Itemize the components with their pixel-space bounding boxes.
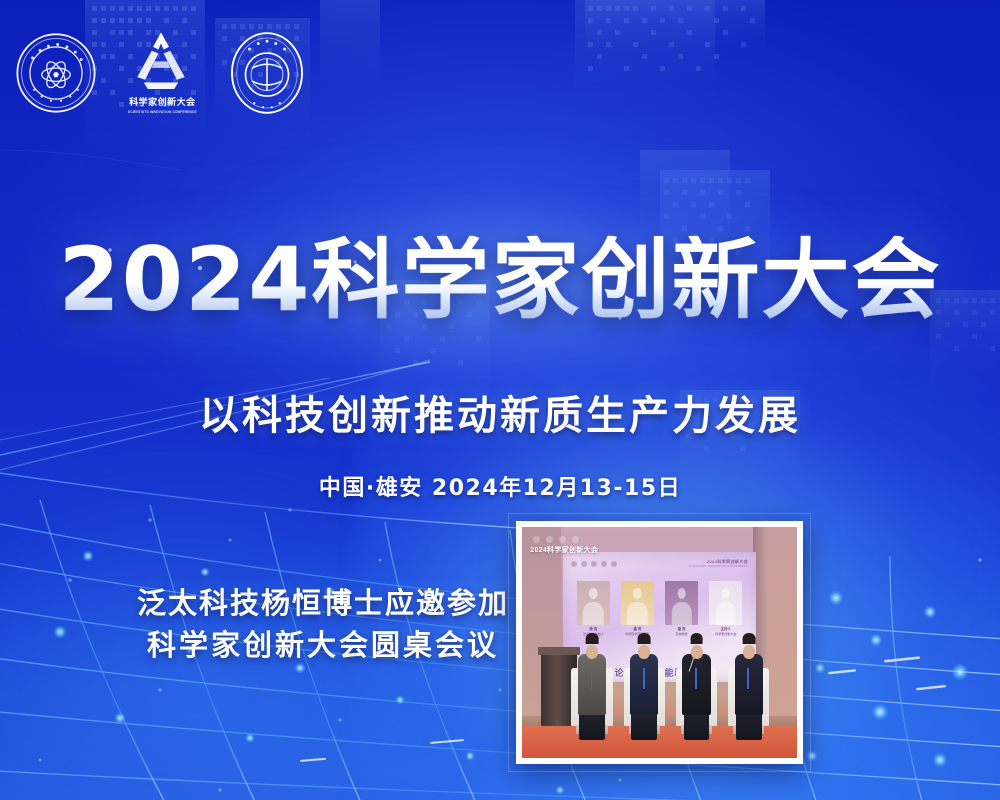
speaker-card: 嘉 宾 高校教授 — [665, 581, 698, 637]
panelist-group — [574, 633, 783, 725]
panelist-hair — [690, 633, 703, 644]
subtitle: 以科技创新推动新质生产力发展 — [0, 383, 1000, 441]
panelist-head — [638, 645, 650, 659]
photo-event-banner: 2024科学家创新大会 — [530, 536, 624, 555]
photo-banner-icons — [530, 536, 624, 543]
logo-caption-sub: SCIENTISTS INNOVATION CONFERENCE — [128, 111, 197, 114]
panelist-hair — [742, 633, 755, 644]
speaker-portrait — [665, 581, 698, 625]
speaker-portrait — [709, 581, 742, 625]
logo-xiongan-seal — [227, 30, 307, 116]
circular-seal-icon-2 — [227, 30, 307, 116]
panelist-hair — [586, 633, 599, 644]
speaker-portrait — [577, 581, 610, 625]
speaker-card-list: 杨 恒 泛太科技创始人 嘉 宾 中国科学院研究员 — [577, 581, 743, 637]
screen-brand-sub: SCIENTISTS INNOVATION CONFERENCE — [689, 565, 748, 569]
screen-logo-icon-2 — [581, 561, 587, 567]
speaker-card: 嘉 宾 中国科学院研究员 — [621, 581, 654, 637]
screen-brand: 2024科学家创新大会 SCIENTISTS INNOVATION CONFER… — [689, 559, 748, 569]
logo-caption-main: 科学家创新大会 — [129, 97, 196, 107]
event-caption: 泛太科技杨恒博士应邀参加 科学家创新大会圆桌会议 — [128, 582, 518, 666]
speaker-portrait — [621, 581, 654, 625]
date-location-bar: 中国·雄安 2024年12月13-15日 — [0, 470, 1000, 502]
screen-logo-icon-5 — [611, 561, 617, 567]
photo-banner-title: 2024科学家创新大会 — [530, 545, 624, 555]
banner-logo-icon-1 — [533, 536, 540, 543]
main-title: 2024科学家创新大会 — [59, 236, 942, 324]
panelist-head — [690, 645, 702, 659]
panelist — [627, 633, 663, 725]
circular-seal-icon — [14, 31, 98, 115]
panelist — [731, 633, 767, 725]
panelist — [679, 633, 715, 725]
screen-logo-icons — [571, 561, 617, 567]
banner-logo-icon-3 — [559, 536, 566, 543]
screen-header: 2024科学家创新大会 SCIENTISTS INNOVATION CONFER… — [571, 559, 748, 569]
logo-row: 科学家创新大会 SCIENTISTS INNOVATION CONFERENCE — [14, 30, 307, 116]
event-photo-frame: 2024科学家创新大会 SCIENTISTS INNOVATION CONFER… — [516, 521, 803, 764]
logo-scientists-innovation-conference: 科学家创新大会 SCIENTISTS INNOVATION CONFERENCE — [128, 31, 197, 114]
caption-line-2: 科学家创新大会圆桌会议 — [128, 624, 518, 666]
panelist-head — [743, 645, 755, 659]
speaker-card: 主持人 科学家创新大会 — [709, 581, 742, 637]
panelist-badge — [747, 668, 749, 688]
panelist-badge — [591, 668, 593, 688]
logo-cast-seal — [14, 31, 98, 115]
screen-logo-icon-4 — [601, 561, 607, 567]
event-photo: 2024科学家创新大会 SCIENTISTS INNOVATION CONFER… — [522, 527, 797, 758]
panelist-badge — [643, 668, 645, 688]
logo-caption: 科学家创新大会 SCIENTISTS INNOVATION CONFERENCE — [128, 93, 197, 114]
poster-canvas: 科学家创新大会 SCIENTISTS INNOVATION CONFERENCE — [0, 0, 1000, 800]
panelist-badge — [695, 668, 697, 688]
title-block: 2024科学家创新大会 — [0, 236, 1000, 324]
panelist-head — [586, 645, 598, 659]
triangle-mark-icon — [128, 31, 194, 93]
panelist-hair — [638, 633, 651, 644]
screen-logo-icon-3 — [591, 561, 597, 567]
screen-brand-main: 2024科学家创新大会 — [707, 559, 748, 564]
screen-logo-icon-1 — [571, 561, 577, 567]
caption-line-1: 泛太科技杨恒博士应邀参加 — [128, 582, 518, 624]
banner-logo-icon-4 — [572, 536, 579, 543]
speaker-card: 杨 恒 泛太科技创始人 — [577, 581, 610, 637]
panelist — [574, 633, 610, 725]
banner-logo-icon-2 — [546, 536, 553, 543]
